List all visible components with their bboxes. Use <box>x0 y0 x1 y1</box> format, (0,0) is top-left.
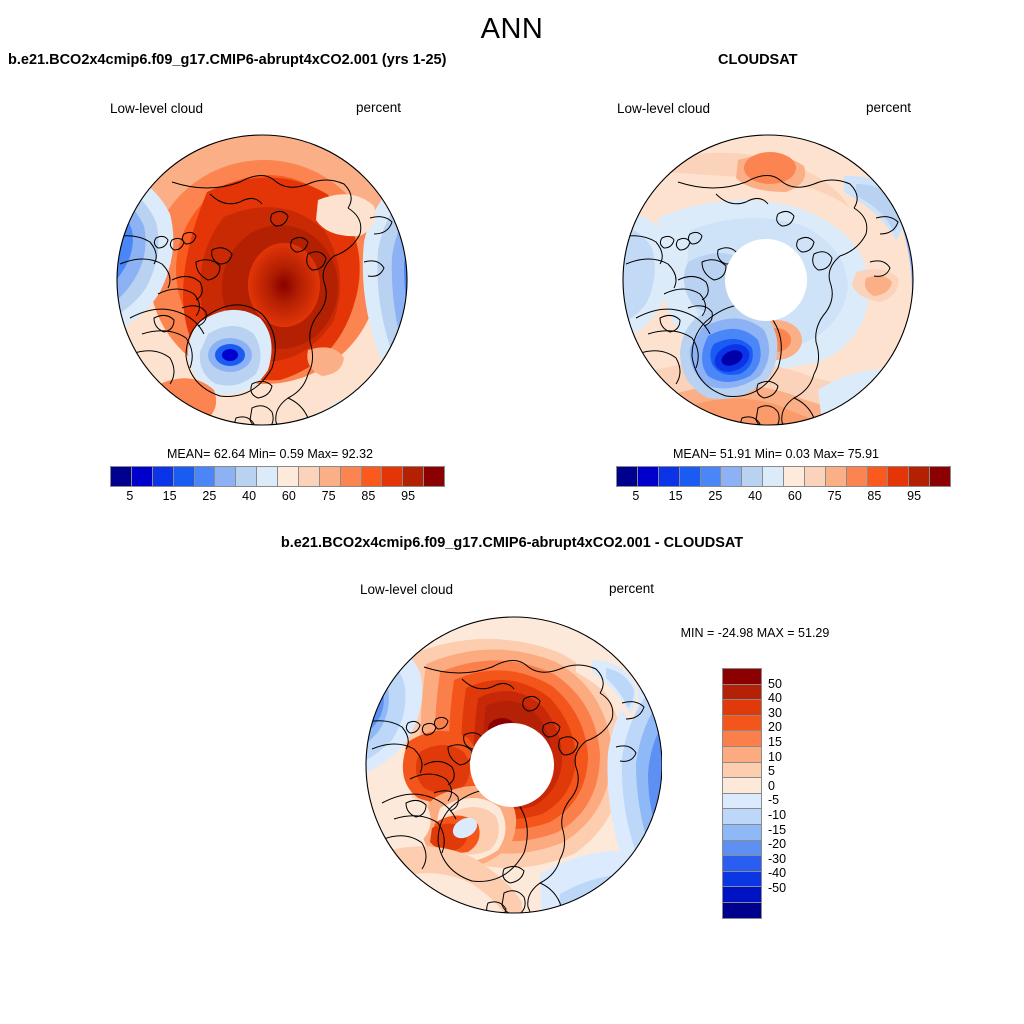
colorbar-tick-label: -40 <box>768 866 786 880</box>
colorbar-segment <box>701 467 722 486</box>
colorbar-tick-label: 20 <box>768 720 782 734</box>
colorbar-segment <box>723 731 761 747</box>
colorbar-segment <box>132 467 153 486</box>
colorbar-tick-label: 30 <box>768 706 782 720</box>
colorbar-segment <box>236 467 257 486</box>
colorbar-tick-label: -30 <box>768 852 786 866</box>
colorbar-segment <box>826 467 847 486</box>
colorbar-segment <box>847 467 868 486</box>
obs-unit-label: percent <box>866 100 911 115</box>
obs-colorbar-ticks: 515254060758595 <box>616 487 951 505</box>
obs-colorbar-swatches <box>616 466 951 487</box>
model-panel-title: b.e21.BCO2x4cmip6.f09_g17.CMIP6-abrupt4x… <box>8 52 446 68</box>
diff-colorbar-ticks: 50403020151050-5-10-15-20-30-40-50 <box>768 668 808 902</box>
model-unit-label: percent <box>356 100 401 115</box>
colorbar-segment <box>868 467 889 486</box>
diff-panel-title: b.e21.BCO2x4cmip6.f09_g17.CMIP6-abrupt4x… <box>0 535 1024 551</box>
colorbar-segment <box>723 825 761 841</box>
colorbar-tick-label: 5 <box>768 764 775 778</box>
colorbar-segment <box>723 778 761 794</box>
diff-unit-label: percent <box>609 581 654 596</box>
colorbar-tick-label: 75 <box>828 489 842 503</box>
colorbar-tick-label: 15 <box>163 489 177 503</box>
colorbar-segment <box>153 467 174 486</box>
colorbar-tick-label: -50 <box>768 881 786 895</box>
colorbar-tick-label: 60 <box>788 489 802 503</box>
colorbar-segment <box>723 700 761 716</box>
diff-stats: MIN = -24.98 MAX = 51.29 <box>640 626 870 640</box>
colorbar-segment <box>320 467 341 486</box>
model-colorbar: 515254060758595 <box>110 466 445 505</box>
colorbar-tick-label: -15 <box>768 823 786 837</box>
colorbar-segment <box>174 467 195 486</box>
colorbar-tick-label: 95 <box>907 489 921 503</box>
colorbar-segment <box>617 467 638 486</box>
colorbar-segment <box>723 809 761 825</box>
colorbar-tick-label: -10 <box>768 808 786 822</box>
colorbar-segment <box>784 467 805 486</box>
colorbar-tick-label: 85 <box>361 489 375 503</box>
colorbar-tick-label: 40 <box>748 489 762 503</box>
colorbar-tick-label: 40 <box>242 489 256 503</box>
diff-colorbar-swatches <box>722 668 762 919</box>
colorbar-tick-label: 5 <box>632 489 639 503</box>
obs-colorbar: 515254060758595 <box>616 466 951 505</box>
colorbar-segment <box>424 467 444 486</box>
polar-data-gap <box>725 239 807 321</box>
colorbar-tick-label: 95 <box>401 489 415 503</box>
colorbar-segment <box>215 467 236 486</box>
model-variable-label: Low-level cloud <box>110 101 203 116</box>
colorbar-tick-label: 40 <box>768 691 782 705</box>
diff-variable-label: Low-level cloud <box>360 582 453 597</box>
colorbar-segment <box>805 467 826 486</box>
colorbar-segment <box>299 467 320 486</box>
colorbar-tick-label: -20 <box>768 837 786 851</box>
colorbar-segment <box>403 467 424 486</box>
polar-data-gap <box>470 723 554 807</box>
colorbar-segment <box>888 467 909 486</box>
colorbar-tick-label: 25 <box>202 489 216 503</box>
model-stats: MEAN= 62.64 Min= 0.59 Max= 92.32 <box>110 447 430 461</box>
colorbar-tick-label: 50 <box>768 677 782 691</box>
colorbar-tick-label: 60 <box>282 489 296 503</box>
colorbar-tick-label: 15 <box>669 489 683 503</box>
colorbar-segment <box>680 467 701 486</box>
colorbar-tick-label: 0 <box>768 779 775 793</box>
colorbar-segment <box>721 467 742 486</box>
colorbar-segment <box>723 856 761 872</box>
colorbar-segment <box>723 903 761 918</box>
colorbar-tick-label: 25 <box>708 489 722 503</box>
colorbar-segment <box>723 685 761 701</box>
colorbar-tick-label: 5 <box>126 489 133 503</box>
model-colorbar-ticks: 515254060758595 <box>110 487 445 505</box>
colorbar-segment <box>659 467 680 486</box>
colorbar-segment <box>723 716 761 732</box>
colorbar-segment <box>723 841 761 857</box>
colorbar-tick-label: -5 <box>768 793 779 807</box>
colorbar-tick-label: 85 <box>867 489 881 503</box>
colorbar-segment <box>341 467 362 486</box>
colorbar-segment <box>930 467 950 486</box>
colorbar-segment <box>362 467 383 486</box>
colorbar-segment <box>723 763 761 779</box>
colorbar-segment <box>723 872 761 888</box>
colorbar-segment <box>723 747 761 763</box>
diff-polar-map <box>362 602 662 928</box>
colorbar-segment <box>742 467 763 486</box>
obs-panel-title: CLOUDSAT <box>718 52 797 68</box>
obs-polar-map <box>618 122 918 438</box>
model-polar-map <box>112 122 412 438</box>
colorbar-tick-label: 15 <box>768 735 782 749</box>
colorbar-segment <box>195 467 216 486</box>
colorbar-tick-label: 10 <box>768 750 782 764</box>
colorbar-segment <box>723 887 761 903</box>
colorbar-segment <box>763 467 784 486</box>
colorbar-tick-label: 75 <box>322 489 336 503</box>
colorbar-segment <box>257 467 278 486</box>
obs-stats: MEAN= 51.91 Min= 0.03 Max= 75.91 <box>616 447 936 461</box>
colorbar-segment <box>111 467 132 486</box>
colorbar-segment <box>278 467 299 486</box>
page-title: ANN <box>0 13 1024 46</box>
diff-colorbar: 50403020151050-5-10-15-20-30-40-50 <box>722 668 1024 902</box>
colorbar-segment <box>638 467 659 486</box>
obs-variable-label: Low-level cloud <box>617 101 710 116</box>
model-colorbar-swatches <box>110 466 445 487</box>
colorbar-segment <box>723 669 761 685</box>
colorbar-segment <box>909 467 930 486</box>
colorbar-segment <box>723 794 761 810</box>
colorbar-segment <box>382 467 403 486</box>
